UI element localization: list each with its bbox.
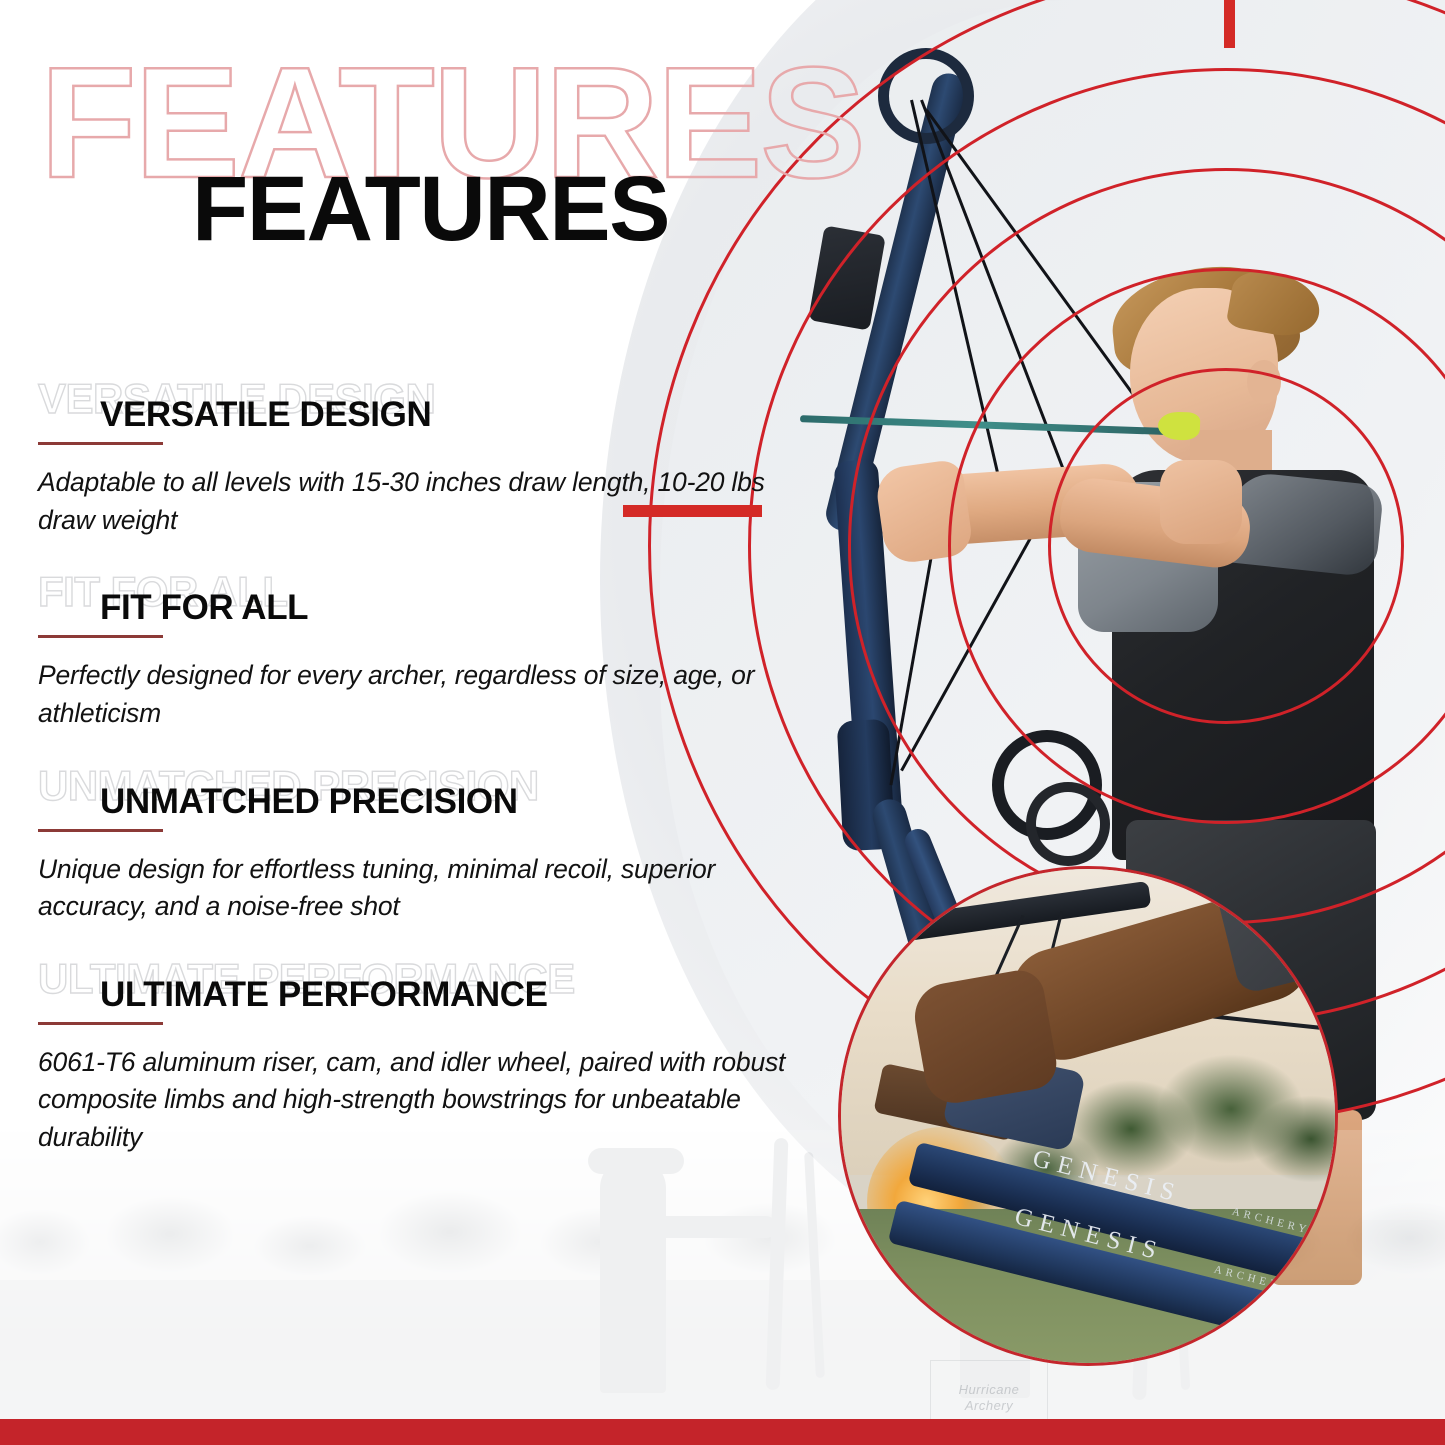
watermark-line-2: Archery [965,1398,1013,1414]
boy-ear [1247,360,1281,404]
feature-title-rule [38,635,163,638]
feature-title-rule [38,1022,163,1025]
bowstring-draw [925,109,1163,434]
feature-body: Adaptable to all levels with 15-30 inche… [38,464,828,539]
bowstring-main [920,99,1066,474]
page-header: FEATURES FEATURES [0,0,760,280]
feature-body: Perfectly designed for every archer, reg… [38,657,828,732]
idler-wheel [878,48,974,144]
feature-title-area: ULTIMATE PERFORMANCE ULTIMATE PERFORMANC… [38,952,830,1022]
inset-photo-circle: GENESIS ARCHERY GENESIS ARCHERY [838,866,1338,1366]
ghost-archer-1-body [600,1158,666,1393]
ghost-archer-1-arm [655,1216,777,1238]
feature-body: Unique design for effortless tuning, min… [38,851,828,926]
feature-body: 6061-T6 aluminum riser, cam, and idler w… [38,1044,828,1157]
feature-title-area: VERSATILE DESIGN VERSATILE DESIGN [38,372,830,442]
feature-block: UNMATCHED PRECISION UNMATCHED PRECISION … [0,759,830,926]
bowstring-upper [910,100,1003,490]
feature-title-rule [38,829,163,832]
page-title: FEATURES [192,163,669,255]
boy-draw-hand [1160,460,1242,544]
feature-block: ULTIMATE PERFORMANCE ULTIMATE PERFORMANC… [0,952,830,1157]
feature-block: VERSATILE DESIGN VERSATILE DESIGN Adapta… [0,372,830,539]
cam-wheel-secondary [1026,782,1110,866]
features-poster: Hurricane Archery GENESIS ARCHERY GENESI… [0,0,1445,1445]
feature-title-area: UNMATCHED PRECISION UNMATCHED PRECISION [38,759,830,829]
feature-title: VERSATILE DESIGN [100,397,431,432]
inset-hand [910,966,1061,1107]
feature-title-rule [38,442,163,445]
feature-title: ULTIMATE PERFORMANCE [100,977,548,1012]
features-list: VERSATILE DESIGN VERSATILE DESIGN Adapta… [0,372,830,1183]
boy-bow-hand [874,458,975,565]
feature-title: FIT FOR ALL [100,590,308,625]
feature-title: UNMATCHED PRECISION [100,784,518,819]
footer-accent-bar [0,1419,1445,1445]
watermark-line-1: Hurricane [959,1382,1020,1398]
feature-title-area: FIT FOR ALL FIT FOR ALL [38,565,830,635]
feature-block: FIT FOR ALL FIT FOR ALL Perfectly design… [0,565,830,732]
